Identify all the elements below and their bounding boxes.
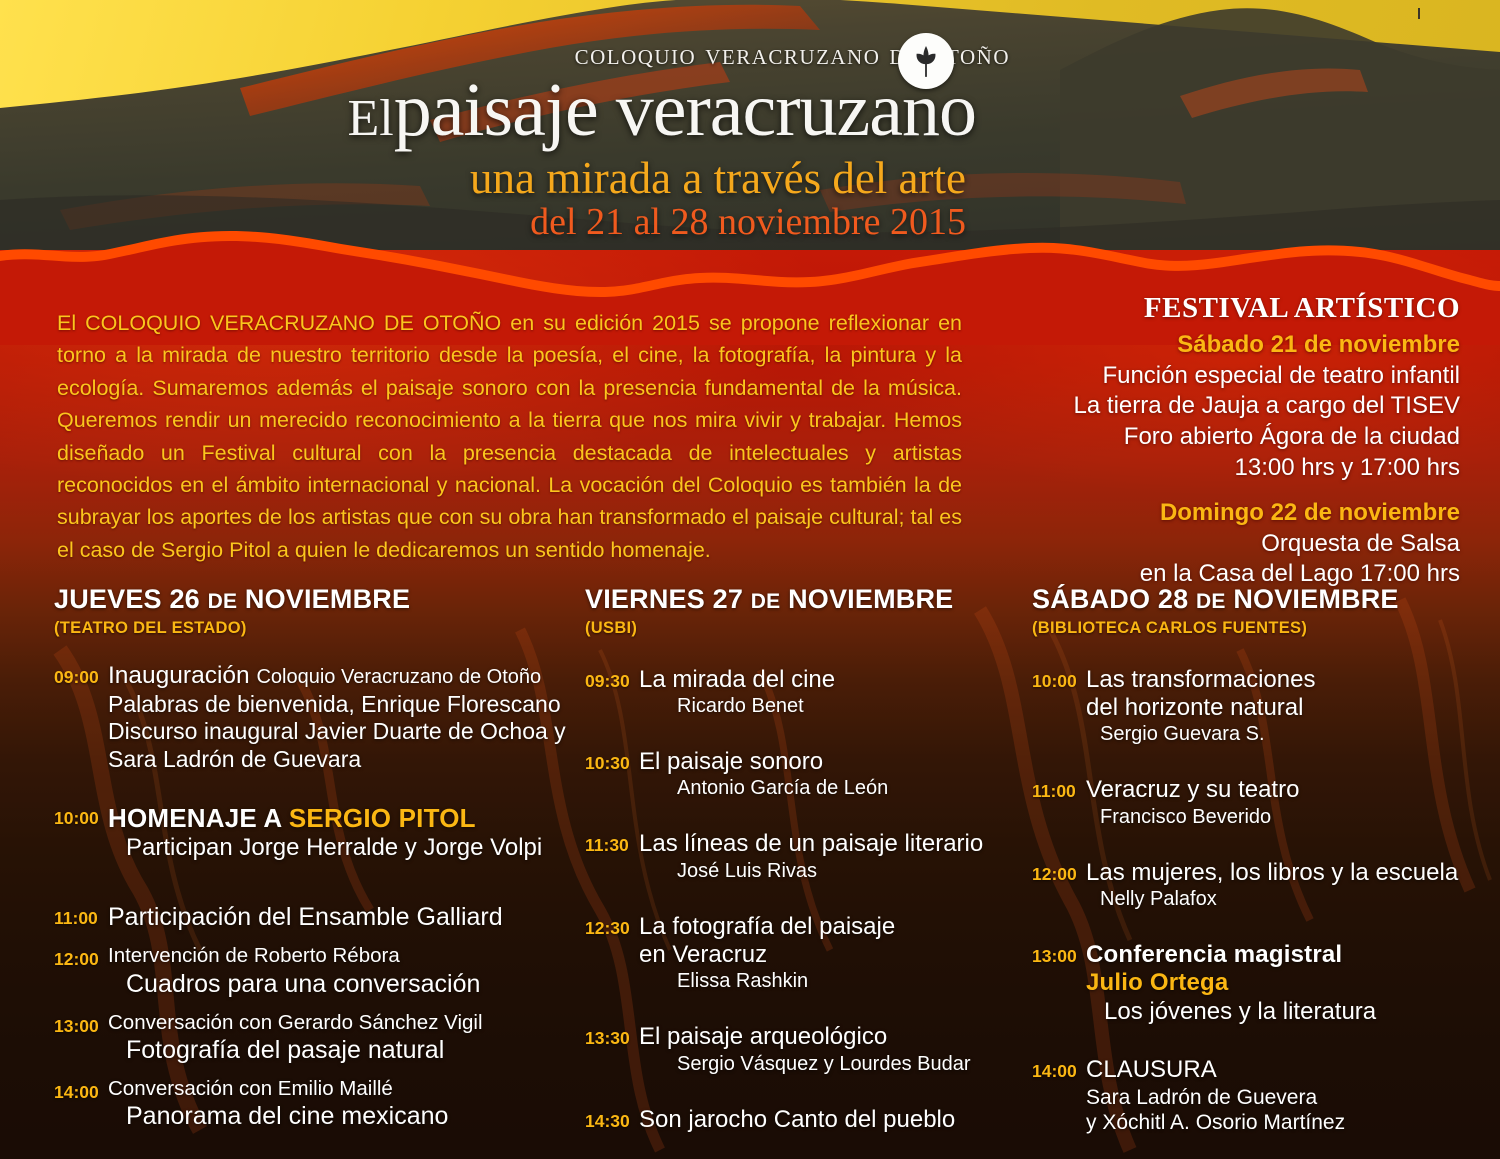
column-1-items: 09:00 Inauguración Coloquio Veracruzano …: [54, 662, 569, 1131]
item-title: CLAUSURA: [1086, 1056, 1492, 1084]
item-title-line2: en Veracruz: [639, 941, 1020, 969]
item-time: 12:00: [1032, 859, 1086, 885]
column-3-de: DE: [1196, 590, 1226, 613]
item-time: 13:30: [585, 1023, 639, 1049]
item-body: La fotografía del paisaje en Veracruz El…: [639, 913, 1020, 994]
schedule-item-homenaje: 10:00 HOMENAJE A SERGIO PITOL Participan…: [54, 803, 569, 862]
item-title: La mirada del cine: [639, 666, 1020, 694]
festival-day1-time: 13:00 hrs y 17:00 hrs: [1040, 453, 1460, 484]
column-2-de: DE: [751, 590, 781, 613]
item-time: 09:00: [54, 662, 108, 688]
schedule-item: 11:30 Las líneas de un paisaje literario…: [585, 830, 1020, 882]
item-body: Conversación con Emilio Maillé Panorama …: [108, 1077, 569, 1131]
column-2-title: VIERNES 27 DE NOVIEMBRE: [585, 585, 1020, 615]
item-title: Conversación con Emilio Maillé: [108, 1077, 569, 1101]
schedule-item: 13:30 El paisaje arqueológico Sergio Vás…: [585, 1023, 1020, 1075]
item-time: 10:30: [585, 748, 639, 774]
item-speaker-2: y Xóchitl A. Osorio Martínez: [1086, 1110, 1492, 1135]
schedule-item: 11:00 Veracruz y su teatro Francisco Bev…: [1032, 776, 1492, 828]
item-time: 14:30: [585, 1106, 639, 1132]
item-title-text: HOMENAJE A: [108, 803, 289, 833]
item-time: 11:00: [1032, 776, 1086, 802]
column-2-items: 09:30 La mirada del cine Ricardo Benet 1…: [585, 666, 1020, 1134]
item-title: Participación del Ensamble Galliard: [108, 903, 569, 933]
item-speaker: Sergio Guevara S.: [1086, 722, 1492, 746]
schedule-item: 11:00 Participación del Ensamble Galliar…: [54, 903, 569, 933]
item-title: El paisaje arqueológico: [639, 1023, 1020, 1051]
item-speaker: Francisco Beverido: [1086, 805, 1492, 829]
item-body: Participación del Ensamble Galliard: [108, 903, 569, 933]
item-title: Son jarocho Canto del pueblo: [639, 1106, 1020, 1134]
item-body: Son jarocho Canto del pueblo: [639, 1106, 1020, 1134]
column-3-items: 10:00 Las transformaciones del horizonte…: [1032, 666, 1492, 1159]
item-title: Las mujeres, los libros y la escuela: [1086, 859, 1492, 887]
item-time: 11:30: [585, 830, 639, 856]
column-1-title: JUEVES 26 DE NOVIEMBRE: [54, 585, 569, 615]
item-speaker: Participan Jorge Herralde y Jorge Volpi: [108, 834, 569, 863]
item-work: Los jóvenes y la literatura: [1086, 998, 1492, 1027]
item-time: 09:30: [585, 666, 639, 692]
festival-spacer: [1040, 483, 1460, 497]
festival-day-2: Domingo 22 de noviembre: [1040, 497, 1460, 528]
header-kicker: coloquio veracruzano de otoño: [0, 38, 1010, 72]
item-title: La fotografía del paisaje: [639, 913, 1020, 941]
poster-title: Elpaisaje veracruzano: [0, 72, 976, 148]
festival-day-1: Sábado 21 de noviembre: [1040, 329, 1460, 360]
item-work: Panorama del cine mexicano: [108, 1101, 569, 1131]
item-line-4: Sara Ladrón de Guevara: [108, 746, 569, 774]
item-title-accent: Julio Ortega: [1086, 969, 1492, 997]
schedule-item: 10:30 El paisaje sonoro Antonio García d…: [585, 748, 1020, 800]
schedule-item-conferencia: 13:00 Conferencia magistral Julio Ortega…: [1032, 941, 1492, 1026]
schedule-item: 12:00 Las mujeres, los libros y la escue…: [1032, 859, 1492, 911]
item-title-line2: del horizonte natural: [1086, 694, 1492, 722]
schedule-item: 12:00 Intervención de Roberto Rébora Cua…: [54, 944, 569, 998]
schedule-item: 12:30 La fotografía del paisaje en Verac…: [585, 913, 1020, 994]
schedule-column-saturday: SÁBADO 28 DE NOVIEMBRE (BIBLIOTECA CARLO…: [1032, 585, 1492, 1159]
column-1-de: DE: [208, 590, 238, 613]
item-body: Las mujeres, los libros y la escuela Nel…: [1086, 859, 1492, 911]
item-time: 12:30: [585, 913, 639, 939]
intro-paragraph: El COLOQUIO VERACRUZANO DE OTOÑO en su e…: [57, 307, 962, 566]
item-body: Inauguración Coloquio Veracruzano de Oto…: [108, 662, 569, 774]
item-time: 14:00: [54, 1077, 108, 1103]
festival-day1-line3: Foro abierto Ágora de la ciudad: [1040, 422, 1460, 453]
item-speaker: Sergio Vásquez y Lourdes Budar: [639, 1052, 1020, 1076]
item-time: 14:00: [1032, 1056, 1086, 1082]
column-3-title: SÁBADO 28 DE NOVIEMBRE: [1032, 585, 1492, 615]
item-speaker: Sara Ladrón de Guevera: [1086, 1085, 1492, 1110]
item-speaker: Ricardo Benet: [639, 694, 1020, 718]
column-1-venue: (TEATRO DEL ESTADO): [54, 619, 569, 638]
item-time: 10:00: [1032, 666, 1086, 692]
item-title: HOMENAJE A SERGIO PITOL: [108, 803, 569, 834]
schedule-item: 10:00 Las transformaciones del horizonte…: [1032, 666, 1492, 747]
festival-day1-line2: La tierra de Jauja a cargo del TISEV: [1040, 391, 1460, 422]
item-title: Veracruz y su teatro: [1086, 776, 1492, 804]
schedule-column-thursday: JUEVES 26 DE NOVIEMBRE (TEATRO DEL ESTAD…: [54, 585, 569, 1148]
schedule-item: 14:00 Conversación con Emilio Maillé Pan…: [54, 1077, 569, 1131]
poster-subtitle: una mirada a través del arte: [0, 155, 966, 202]
schedule-column-friday: VIERNES 27 DE NOVIEMBRE (USBI) 09:30 La …: [585, 585, 1020, 1151]
item-work: Fotografía del pasaje natural: [108, 1035, 569, 1065]
item-title: Conversación con Gerardo Sánchez Vigil: [108, 1011, 569, 1035]
item-body: Las líneas de un paisaje literario José …: [639, 830, 1020, 882]
title-main: paisaje veracruzano: [394, 68, 976, 152]
item-time: 13:00: [1032, 941, 1086, 967]
column-1-day: JUEVES 26: [54, 584, 200, 614]
item-body: Intervención de Roberto Rébora Cuadros p…: [108, 944, 569, 998]
schedule-item: 14:30 Son jarocho Canto del pueblo: [585, 1106, 1020, 1134]
item-speaker: José Luis Rivas: [639, 859, 1020, 883]
item-speaker: Nelly Palafox: [1086, 887, 1492, 911]
item-body: Veracruz y su teatro Francisco Beverido: [1086, 776, 1492, 828]
item-title: El paisaje sonoro: [639, 748, 1020, 776]
column-3-day: SÁBADO 28: [1032, 584, 1188, 614]
item-title: Las líneas de un paisaje literario: [639, 830, 1020, 858]
festival-day2-line1: Orquesta de Salsa: [1040, 529, 1460, 560]
item-body: CLAUSURA Sara Ladrón de Guevera y Xóchit…: [1086, 1056, 1492, 1135]
item-body: HOMENAJE A SERGIO PITOL Participan Jorge…: [108, 803, 569, 862]
item-line-2: Palabras de bienvenida, Enrique Floresca…: [108, 691, 569, 719]
item-time: 11:00: [54, 903, 108, 929]
schedule-item: 09:30 La mirada del cine Ricardo Benet: [585, 666, 1020, 718]
column-2-venue: (USBI): [585, 619, 1020, 638]
item-body: Conferencia magistral Julio Ortega Los j…: [1086, 941, 1492, 1026]
item-time: 12:00: [54, 944, 108, 970]
poster-header: coloquio veracruzano de otoño Elpaisaje …: [0, 0, 1500, 290]
item-body: El paisaje arqueológico Sergio Vásquez y…: [639, 1023, 1020, 1075]
item-body: La mirada del cine Ricardo Benet: [639, 666, 1020, 718]
item-title: Intervención de Roberto Rébora: [108, 944, 569, 968]
item-title-tail: Coloquio Veracruzano de Otoño: [256, 666, 541, 688]
title-prefix: El: [347, 90, 393, 147]
poster-root: coloquio veracruzano de otoño Elpaisaje …: [0, 0, 1500, 1159]
item-speaker: Elissa Rashkin: [639, 969, 1020, 993]
festival-title: FESTIVAL ARTÍSTICO: [1040, 292, 1460, 325]
schedule-item: 14:00 CLAUSURA Sara Ladrón de Guevera y …: [1032, 1056, 1492, 1135]
item-speaker: Antonio García de León: [639, 776, 1020, 800]
item-line-3: Discurso inaugural Javier Duarte de Ocho…: [108, 718, 569, 746]
schedule-item: 09:00 Inauguración Coloquio Veracruzano …: [54, 662, 569, 774]
poster-dates: del 21 al 28 noviembre 2015: [0, 203, 966, 243]
item-title-text: Inauguración: [108, 662, 250, 689]
item-body: Conversación con Gerardo Sánchez Vigil F…: [108, 1011, 569, 1065]
item-body: El paisaje sonoro Antonio García de León: [639, 748, 1020, 800]
festival-day1-line1: Función especial de teatro infantil: [1040, 361, 1460, 392]
item-time: 13:00: [54, 1011, 108, 1037]
festival-section: FESTIVAL ARTÍSTICO Sábado 21 de noviembr…: [1040, 292, 1460, 590]
item-title: Inauguración Coloquio Veracruzano de Oto…: [108, 662, 569, 691]
item-body: Las transformaciones del horizonte natur…: [1086, 666, 1492, 747]
column-3-venue: (BIBLIOTECA CARLOS FUENTES): [1032, 619, 1492, 638]
schedule-item: 13:00 Conversación con Gerardo Sánchez V…: [54, 1011, 569, 1065]
column-3-month: NOVIEMBRE: [1233, 584, 1398, 614]
item-work: Cuadros para una conversación: [108, 969, 569, 999]
item-title-accent: SERGIO PITOL: [289, 803, 476, 833]
item-title: Conferencia magistral: [1086, 941, 1492, 969]
column-2-day: VIERNES 27: [585, 584, 743, 614]
item-time: 10:00: [54, 803, 108, 829]
column-2-month: NOVIEMBRE: [788, 584, 953, 614]
item-title: Las transformaciones: [1086, 666, 1492, 694]
column-1-month: NOVIEMBRE: [245, 584, 410, 614]
